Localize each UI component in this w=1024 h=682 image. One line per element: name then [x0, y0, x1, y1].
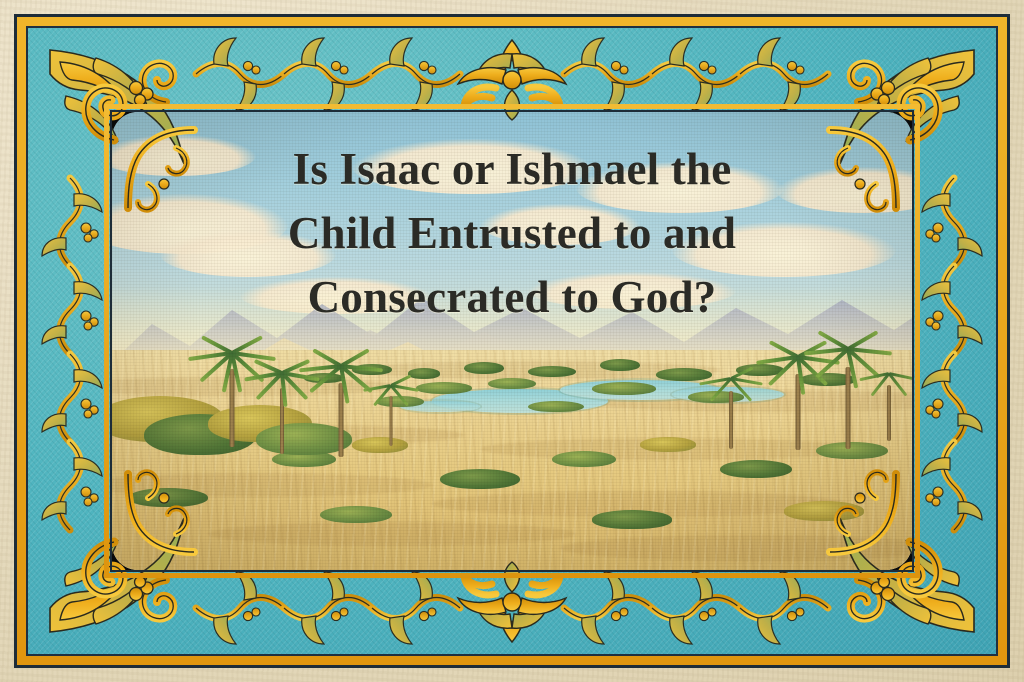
title-line-1: Is Isaac or Ishmael the: [160, 138, 864, 202]
title-card: Is Isaac or Ishmael the Child Entrusted …: [0, 0, 1024, 682]
scene-illustration: Is Isaac or Ishmael the Child Entrusted …: [112, 112, 912, 570]
title-line-2: Child Entrusted to and: [160, 202, 864, 266]
title-line-3: Consecrated to God?: [160, 266, 864, 330]
page-title: Is Isaac or Ishmael the Child Entrusted …: [112, 138, 912, 330]
printed-plate: Is Isaac or Ishmael the Child Entrusted …: [14, 14, 1010, 668]
